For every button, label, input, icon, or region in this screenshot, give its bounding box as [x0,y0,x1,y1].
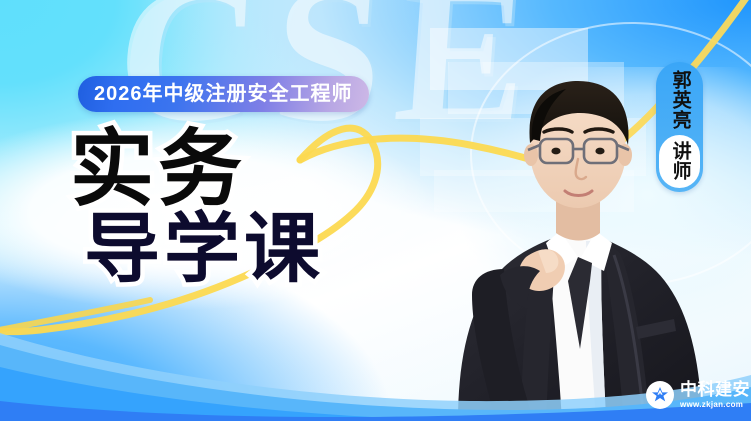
brand-logo[interactable]: 中科建安 www.zkjan.com [630,369,751,421]
title-line-2: 导学课 [84,212,324,286]
title-line-1: 实务 [70,128,324,210]
instructor-badge: 郭英亮 讲师 [656,62,703,192]
page-title: 实务 导学课 [70,128,324,287]
star-arrow-icon [646,381,674,409]
course-badge-label: 2026年中级注册安全工程师 [94,84,353,104]
brand-url: www.zkjan.com [680,401,750,409]
instructor-role: 讲师 [668,141,690,181]
brand-name: 中科建安 [680,381,750,398]
course-badge: 2026年中级注册安全工程师 [78,76,369,112]
instructor-name: 郭英亮 [668,70,690,130]
brand-logo-text: 中科建安 www.zkjan.com [680,381,750,409]
instructor-role-chip: 讲师 [659,135,700,188]
course-poster: CSE CSE [0,0,751,421]
